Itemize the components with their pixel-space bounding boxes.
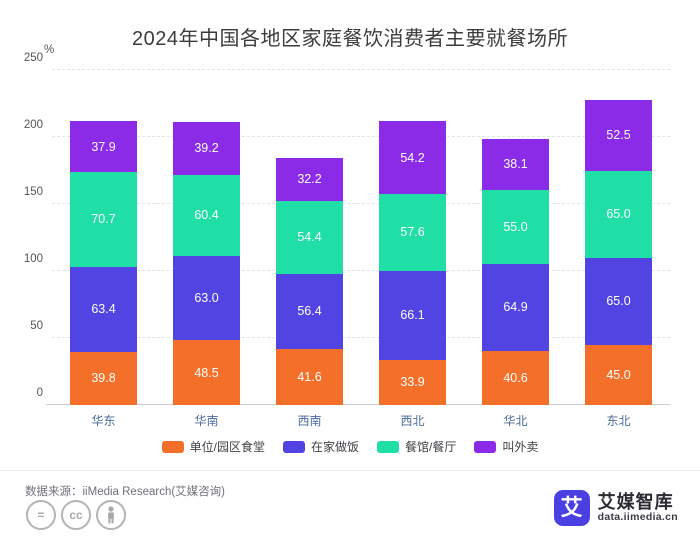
bar-segment[interactable]: 63.0 xyxy=(173,256,240,340)
bar-segment[interactable]: 40.6 xyxy=(482,351,549,405)
bar-stack[interactable]: 45.065.065.052.5 xyxy=(585,100,652,405)
legend-swatch-icon xyxy=(377,441,399,453)
brand-name: 艾媒智库 xyxy=(598,493,678,512)
bar-segment[interactable]: 37.9 xyxy=(70,121,137,172)
legend-item[interactable]: 在家做饭 xyxy=(283,438,359,455)
bar-segment[interactable]: 55.0 xyxy=(482,190,549,264)
x-axis-label: 华东 xyxy=(52,412,155,429)
footer-divider xyxy=(0,470,700,471)
chart-legend: 单位/园区食堂在家做饭餐馆/餐厅叫外卖 xyxy=(0,438,700,455)
legend-label: 在家做饭 xyxy=(311,438,359,455)
person-glyph xyxy=(105,506,117,524)
page-title: 2024年中国各地区家庭餐饮消费者主要就餐场所 xyxy=(0,22,700,51)
gridline xyxy=(52,337,670,338)
bar-segment[interactable]: 41.6 xyxy=(276,349,343,405)
bar-segment[interactable]: 57.6 xyxy=(379,194,446,271)
bar-stack[interactable]: 41.656.454.432.2 xyxy=(276,158,343,405)
bar-stack[interactable]: 48.563.060.439.2 xyxy=(173,122,240,405)
y-axis-tick: 100 xyxy=(24,253,43,265)
legend-item[interactable]: 单位/园区食堂 xyxy=(162,438,265,455)
bar-segment[interactable]: 65.0 xyxy=(585,258,652,345)
bar-segment[interactable]: 32.2 xyxy=(276,158,343,201)
legend-label: 叫外卖 xyxy=(502,438,538,455)
bar-segment[interactable]: 63.4 xyxy=(70,267,137,352)
brand-logo: 艾 艾媒智库 data.iimedia.cn xyxy=(554,490,678,526)
legend-swatch-icon xyxy=(283,441,305,453)
bar-segment[interactable]: 66.1 xyxy=(379,271,446,360)
brand-mark-icon: 艾 xyxy=(554,490,590,526)
equals-icon-glyph: = xyxy=(37,509,44,521)
y-axis-tick: 150 xyxy=(24,186,43,198)
gridline xyxy=(52,270,670,271)
bar-segment[interactable]: 56.4 xyxy=(276,274,343,350)
bar-segment[interactable]: 64.9 xyxy=(482,264,549,351)
cc-icon: cc xyxy=(61,500,91,530)
gridline xyxy=(52,203,670,204)
bar-segment[interactable]: 45.0 xyxy=(585,345,652,405)
legend-label: 单位/园区食堂 xyxy=(190,438,265,455)
x-axis-line xyxy=(46,404,670,405)
bar-segment[interactable]: 60.4 xyxy=(173,175,240,256)
bar-segment[interactable]: 54.2 xyxy=(379,121,446,194)
legend-item[interactable]: 叫外卖 xyxy=(474,438,538,455)
chart-page: 2024年中国各地区家庭餐饮消费者主要就餐场所 % 05010015020025… xyxy=(0,0,700,543)
plot-area: 05010015020025039.863.470.737.948.563.06… xyxy=(52,70,670,405)
bar-segment[interactable]: 38.1 xyxy=(482,139,549,190)
brand-text: 艾媒智库 data.iimedia.cn xyxy=(598,493,678,524)
bar-stack[interactable]: 39.863.470.737.9 xyxy=(70,121,137,405)
legend-swatch-icon xyxy=(474,441,496,453)
bar-segment[interactable]: 39.2 xyxy=(173,122,240,175)
gridline xyxy=(52,136,670,137)
y-axis-tick: 50 xyxy=(30,320,43,332)
bar-segment[interactable]: 54.4 xyxy=(276,201,343,274)
brand-mark-glyph: 艾 xyxy=(561,497,583,519)
x-axis-label: 华南 xyxy=(155,412,258,429)
y-axis-tick: 0 xyxy=(37,387,43,399)
bar-stack[interactable]: 40.664.955.038.1 xyxy=(482,139,549,405)
bar-segment[interactable]: 39.8 xyxy=(70,352,137,405)
y-axis-tick: 200 xyxy=(24,119,43,131)
cc-icon-glyph: cc xyxy=(69,509,82,521)
x-axis-label: 西南 xyxy=(258,412,361,429)
person-icon xyxy=(96,500,126,530)
creative-commons-icons: =cc xyxy=(26,500,126,530)
bar-segment[interactable]: 52.5 xyxy=(585,100,652,170)
legend-label: 餐馆/餐厅 xyxy=(405,438,456,455)
equals-icon: = xyxy=(26,500,56,530)
y-axis-tick: 250 xyxy=(24,52,43,64)
legend-swatch-icon xyxy=(162,441,184,453)
bar-segment[interactable]: 65.0 xyxy=(585,171,652,258)
x-axis-label: 华北 xyxy=(464,412,567,429)
source-note: 数据来源：iiMedia Research(艾媒咨询) xyxy=(25,483,225,499)
bar-segment[interactable]: 33.9 xyxy=(379,360,446,405)
x-axis-label: 东北 xyxy=(567,412,670,429)
y-axis-unit-label: % xyxy=(44,44,54,56)
bar-segment[interactable]: 48.5 xyxy=(173,340,240,405)
gridline xyxy=(52,69,670,70)
bar-segment[interactable]: 70.7 xyxy=(70,172,137,267)
bar-stack[interactable]: 33.966.157.654.2 xyxy=(379,121,446,405)
legend-item[interactable]: 餐馆/餐厅 xyxy=(377,438,456,455)
brand-url: data.iimedia.cn xyxy=(598,512,678,523)
x-axis-label: 西北 xyxy=(361,412,464,429)
